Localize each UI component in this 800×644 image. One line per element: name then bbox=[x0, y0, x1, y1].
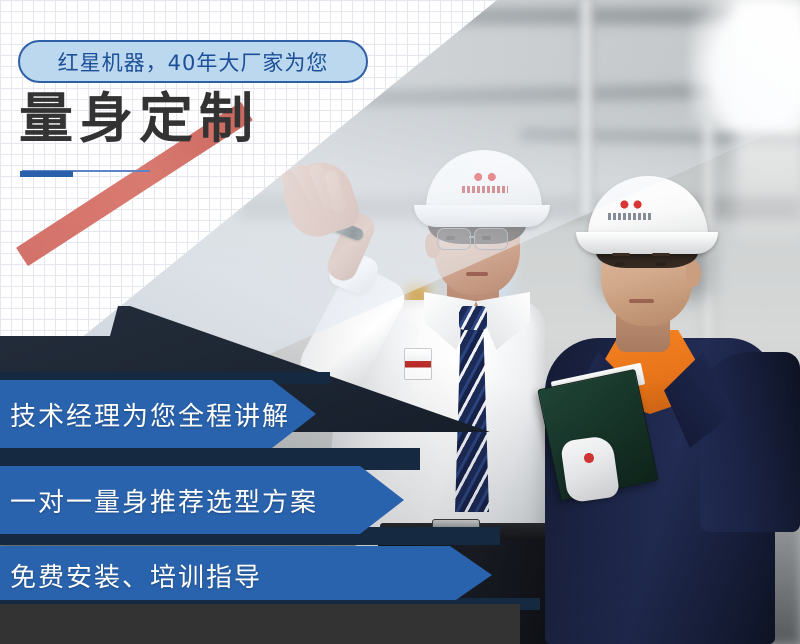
feature-bar-3-label: 免费安装、培训指导 bbox=[0, 557, 262, 594]
feature-bar-2-label: 一对一量身推荐选型方案 bbox=[0, 482, 318, 519]
worker-eyebrow bbox=[612, 253, 630, 256]
support-column bbox=[576, 0, 596, 215]
eyeglasses-bridge bbox=[469, 236, 475, 238]
feature-bar-2: 一对一量身推荐选型方案 bbox=[0, 466, 404, 534]
helmet-logo-icon bbox=[468, 170, 502, 184]
tagline-badge-label: 红星机器，40年大厂家为您 bbox=[58, 47, 329, 77]
worker-ear bbox=[686, 260, 701, 287]
hard-hat-brim bbox=[414, 205, 550, 227]
feature-bar-1: 技术经理为您全程讲解 bbox=[0, 380, 316, 448]
worker-eye bbox=[656, 262, 666, 266]
page-title: 量身定制 bbox=[19, 92, 259, 146]
feature-bar-1-label: 技术经理为您全程讲解 bbox=[0, 396, 290, 433]
worker-mouth bbox=[629, 299, 654, 303]
helmet-logo-text bbox=[608, 213, 652, 220]
window-glare bbox=[735, 0, 800, 240]
engineer-eye bbox=[446, 236, 455, 240]
engineer-mouth bbox=[466, 272, 488, 276]
tagline-badge: 红星机器，40年大厂家为您 bbox=[18, 40, 368, 83]
promo-banner: 红星机器，40年大厂家为您 量身定制 技术经理为您全程讲解 一对一量身推荐选型方… bbox=[0, 0, 800, 644]
hard-hat-brim bbox=[576, 232, 718, 254]
title-underline-accent bbox=[20, 171, 73, 177]
helmet-logo-icon bbox=[616, 198, 646, 211]
bottom-dark-strip bbox=[0, 604, 520, 644]
feature-bar-3: 免费安装、培训指导 bbox=[0, 546, 492, 604]
worker-eyebrow bbox=[652, 253, 670, 256]
helmet-logo-text bbox=[462, 186, 508, 193]
necktie-knot bbox=[459, 306, 487, 330]
engineer-eye bbox=[482, 236, 491, 240]
eyeglasses-icon bbox=[474, 228, 508, 250]
worker-eye bbox=[615, 262, 625, 266]
